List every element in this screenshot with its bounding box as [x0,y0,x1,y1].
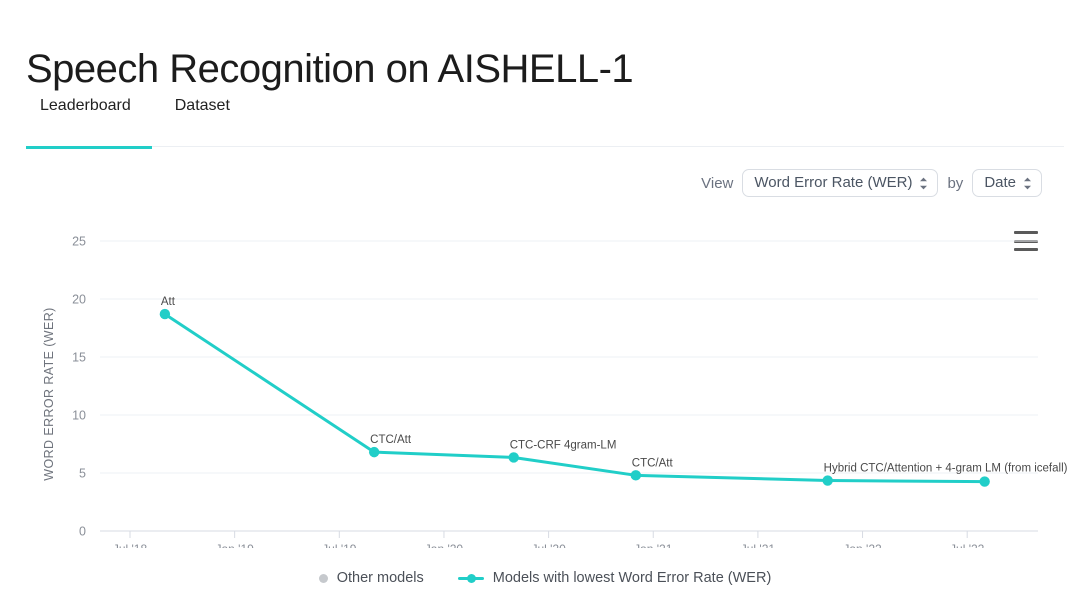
teal-line-dot-icon [458,573,484,583]
series-data-points [160,309,990,487]
tab-active-indicator [26,146,152,149]
svg-text:Att: Att [161,296,176,308]
svg-text:Jan '22: Jan '22 [843,542,882,548]
svg-text:Jul '20: Jul '20 [531,542,566,548]
svg-text:CTC/Att: CTC/Att [370,434,412,446]
svg-text:CTC/Att: CTC/Att [632,457,674,469]
leaderboard-page: Speech Recognition on AISHELL-1 Leaderbo… [0,0,1090,609]
svg-text:0: 0 [79,525,86,539]
chevron-updown-icon [1023,176,1032,190]
legend-label: Other models [337,570,424,586]
svg-text:10: 10 [72,409,86,423]
tab-underline [0,146,1090,149]
svg-text:Jul '18: Jul '18 [113,542,148,548]
metric-select-value: Word Error Rate (WER) [754,174,912,192]
view-controls: View Word Error Rate (WER) by Date [701,169,1042,197]
axis-select-value: Date [984,174,1016,192]
gray-dot-icon [319,574,328,583]
svg-text:Jul '22: Jul '22 [950,542,985,548]
svg-text:Jan '19: Jan '19 [215,542,254,548]
svg-text:20: 20 [72,293,86,307]
svg-text:Jan '20: Jan '20 [425,542,464,548]
page-title: Speech Recognition on AISHELL-1 [26,43,633,95]
by-label: by [947,175,963,192]
y-axis-title: WORD ERROR RATE (WER) [42,307,56,480]
tab-divider [26,146,1064,147]
series-point-labels: AttCTC/AttCTC-CRF 4gram-LMCTC/AttHybrid … [161,296,1068,474]
tab-dataset[interactable]: Dataset [153,96,252,131]
svg-text:25: 25 [72,235,86,249]
legend-item-other-models[interactable]: Other models [319,570,424,586]
series-line-lowest-wer [165,314,985,482]
metric-select[interactable]: Word Error Rate (WER) [742,169,938,197]
x-axis-ticks [130,531,967,538]
wer-over-time-chart: 0510152025 Jul '18Jan '19Jul '19Jan '20J… [0,218,1090,548]
svg-text:15: 15 [72,351,86,365]
svg-text:Jul '19: Jul '19 [322,542,357,548]
svg-text:Jan '21: Jan '21 [634,542,673,548]
chart-svg: 0510152025 Jul '18Jan '19Jul '19Jan '20J… [0,218,1090,548]
tab-bar: Leaderboard Dataset [26,96,252,131]
legend-label: Models with lowest Word Error Rate (WER) [493,570,772,586]
chart-gridlines [100,241,1038,531]
legend-item-lowest-wer[interactable]: Models with lowest Word Error Rate (WER) [458,570,772,586]
svg-text:CTC-CRF 4gram-LM: CTC-CRF 4gram-LM [510,439,617,451]
svg-text:Jul '21: Jul '21 [741,542,776,548]
tab-leaderboard[interactable]: Leaderboard [26,96,153,131]
chart-legend: Other models Models with lowest Word Err… [0,570,1090,586]
chevron-updown-icon [919,176,928,190]
y-axis-tick-labels: 0510152025 [72,235,86,539]
svg-text:Hybrid CTC/Attention + 4-gram: Hybrid CTC/Attention + 4-gram LM (from i… [824,463,1068,475]
view-label: View [701,175,733,192]
svg-text:5: 5 [79,467,86,481]
axis-select[interactable]: Date [972,169,1042,197]
x-axis-tick-labels: Jul '18Jan '19Jul '19Jan '20Jul '20Jan '… [113,542,985,548]
